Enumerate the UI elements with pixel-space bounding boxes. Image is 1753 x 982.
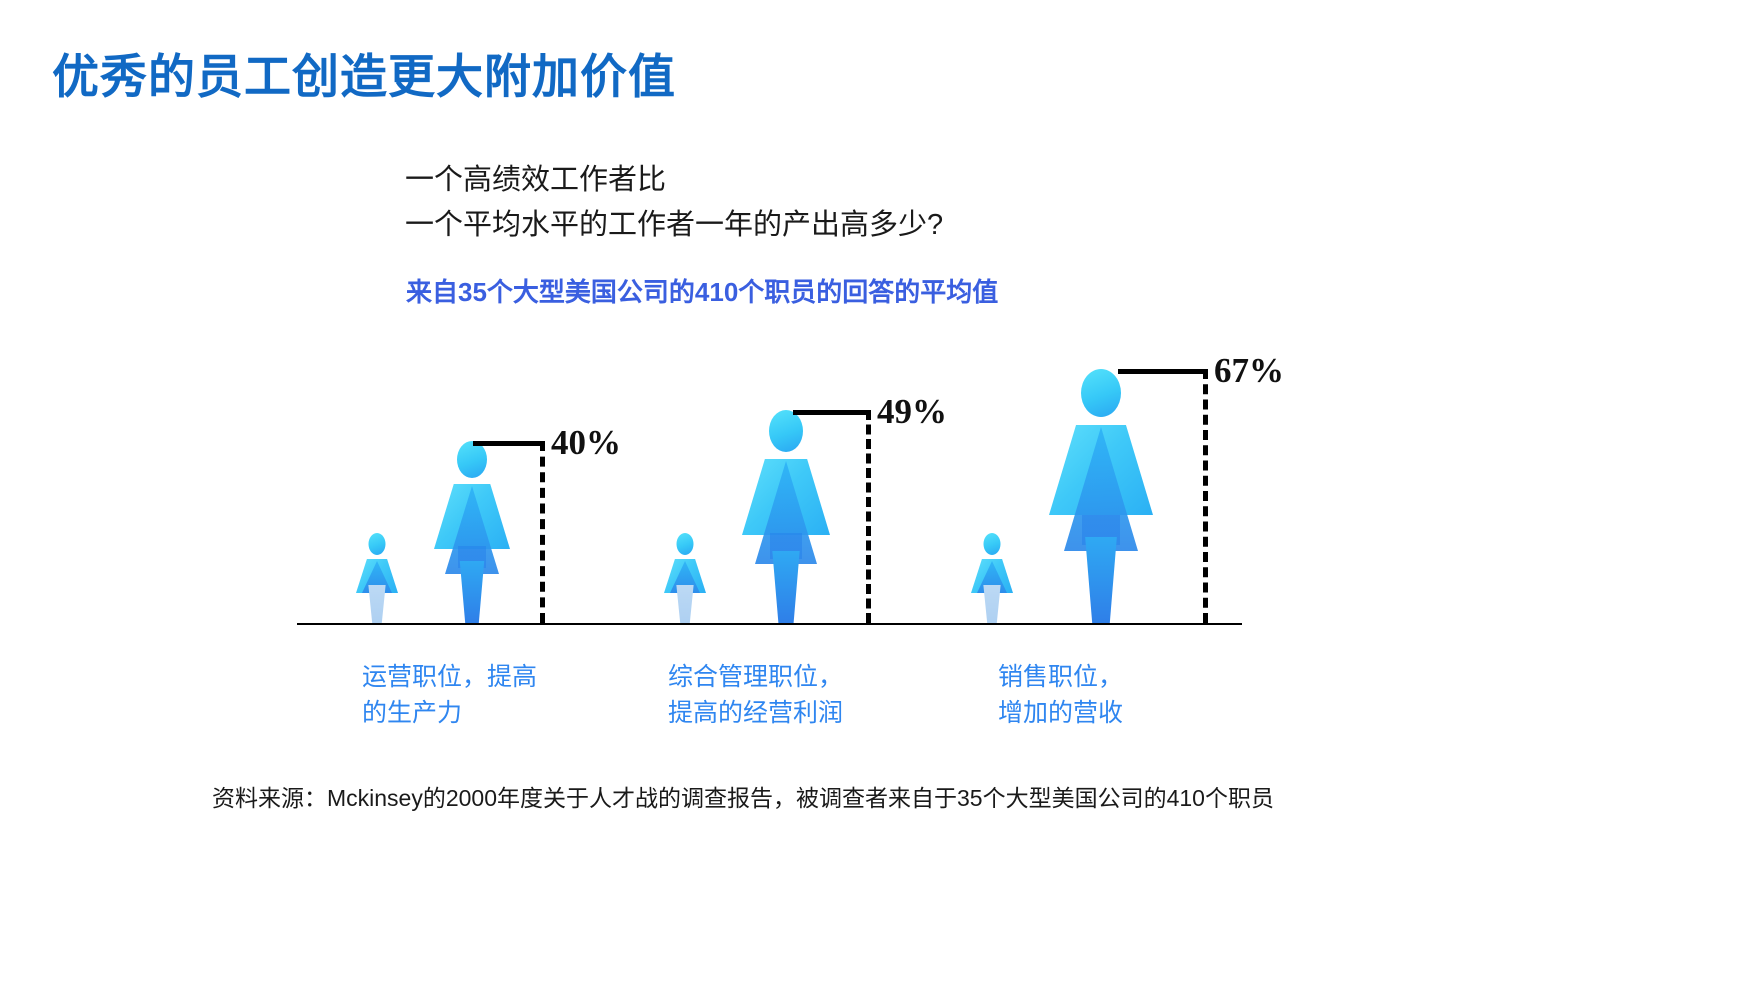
figure-average-worker xyxy=(970,533,1014,623)
question-line-2: 一个平均水平的工作者一年的产出高多少? xyxy=(405,203,943,248)
percent-label-operations: 40% xyxy=(551,423,621,463)
category-line-2: 增加的营收 xyxy=(998,695,1123,731)
category-label-general-management: 综合管理职位， 提高的经营利润 xyxy=(668,659,843,731)
measure-bracket-general-management xyxy=(793,410,871,623)
category-line-1: 运营职位，提高 xyxy=(362,659,537,695)
category-label-sales: 销售职位， 增加的营收 xyxy=(998,659,1123,731)
source-note: 资料来源：Mckinsey的2000年度关于人才战的调查报告，被调查者来自于35… xyxy=(212,779,1274,813)
bracket-vertical-dashes xyxy=(866,410,871,623)
measure-bracket-operations xyxy=(473,441,545,623)
slide-canvas: 优秀的员工创造更大附加价值 一个高绩效工作者比 一个平均水平的工作者一年的产出高… xyxy=(0,0,1753,982)
bracket-vertical-dashes xyxy=(540,441,545,623)
category-line-2: 的生产力 xyxy=(362,695,537,731)
figure-head-icon xyxy=(1081,369,1121,417)
category-label-operations: 运营职位，提高 的生产力 xyxy=(362,659,537,731)
bracket-vertical-dashes xyxy=(1203,369,1208,623)
page-title: 优秀的员工创造更大附加价值 xyxy=(52,38,676,107)
question-line-1: 一个高绩效工作者比 xyxy=(405,158,943,203)
pictogram-chart: 40% xyxy=(0,300,1753,720)
figure-head-icon xyxy=(677,533,694,555)
question-text: 一个高绩效工作者比 一个平均水平的工作者一年的产出高多少? xyxy=(405,158,943,248)
measure-bracket-sales xyxy=(1118,369,1208,623)
percent-label-general-management: 49% xyxy=(877,392,947,432)
category-line-1: 综合管理职位， xyxy=(668,659,843,695)
figure-head-icon xyxy=(984,533,1001,555)
bracket-horizontal-arm xyxy=(473,441,545,446)
figure-average-worker xyxy=(355,533,399,623)
percent-label-sales: 67% xyxy=(1214,351,1284,391)
chart-baseline xyxy=(297,623,1242,625)
figure-average-worker xyxy=(663,533,707,623)
category-line-2: 提高的经营利润 xyxy=(668,695,843,731)
bracket-horizontal-arm xyxy=(1118,369,1208,374)
figure-head-icon xyxy=(369,533,386,555)
category-line-1: 销售职位， xyxy=(998,659,1123,695)
bracket-horizontal-arm xyxy=(793,410,871,415)
